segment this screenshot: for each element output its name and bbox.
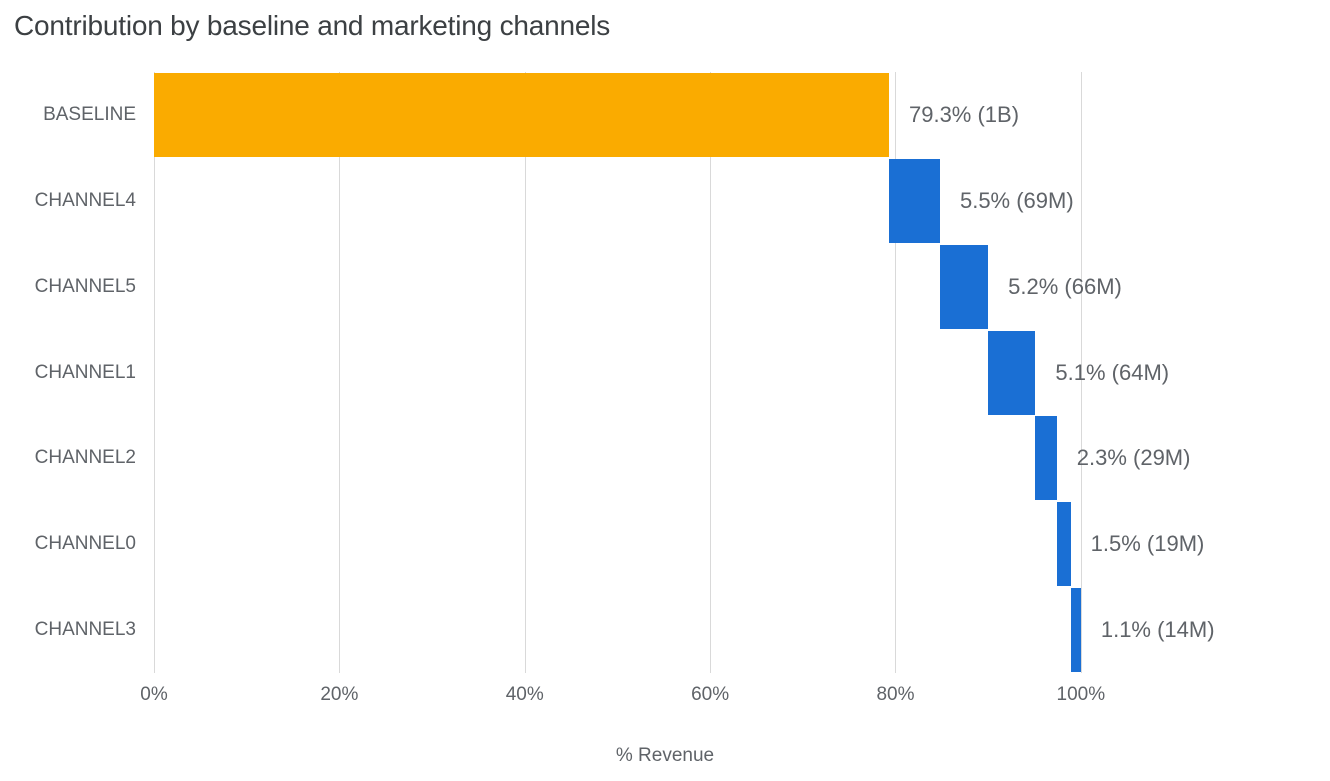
x-axis-tick-label: 80% [876,684,914,706]
bar[interactable] [154,73,889,157]
x-axis-tick-label: 100% [1057,684,1106,706]
y-axis-category-label: CHANNEL3 [0,588,136,672]
y-axis-category-label: CHANNEL2 [0,416,136,500]
bar[interactable] [1035,416,1056,500]
bar-value-label: 1.1% (14M) [1101,588,1215,672]
y-axis-category-label: BASELINE [0,73,136,157]
bar-value-label: 5.5% (69M) [960,159,1074,243]
x-axis-title: % Revenue [0,745,1330,767]
y-axis-category-label: CHANNEL5 [0,245,136,329]
y-axis-category-label: CHANNEL4 [0,159,136,243]
x-axis-tick-label: 60% [691,684,729,706]
bar-value-label: 1.5% (19M) [1091,502,1205,586]
bar-value-label: 79.3% (1B) [909,73,1019,157]
gridline [154,72,155,673]
gridline [339,72,340,673]
chart-title: Contribution by baseline and marketing c… [14,10,610,42]
waterfall-chart: Contribution by baseline and marketing c… [0,0,1330,781]
gridline [525,72,526,673]
x-axis-tick-label: 40% [506,684,544,706]
plot-area: 0%20%40%60%80%100%BASELINE79.3% (1B)CHAN… [154,72,1155,673]
bar-value-label: 5.2% (66M) [1008,245,1122,329]
x-axis-tick-label: 0% [140,684,167,706]
bar[interactable] [889,159,940,243]
bar-value-label: 5.1% (64M) [1055,331,1169,415]
y-axis-category-label: CHANNEL0 [0,502,136,586]
bar[interactable] [940,245,988,329]
y-axis-category-label: CHANNEL1 [0,331,136,415]
bar-value-label: 2.3% (29M) [1077,416,1191,500]
bar[interactable] [1071,588,1081,672]
bar[interactable] [1057,502,1071,586]
x-axis-tick-label: 20% [320,684,358,706]
bar[interactable] [988,331,1035,415]
gridline [710,72,711,673]
